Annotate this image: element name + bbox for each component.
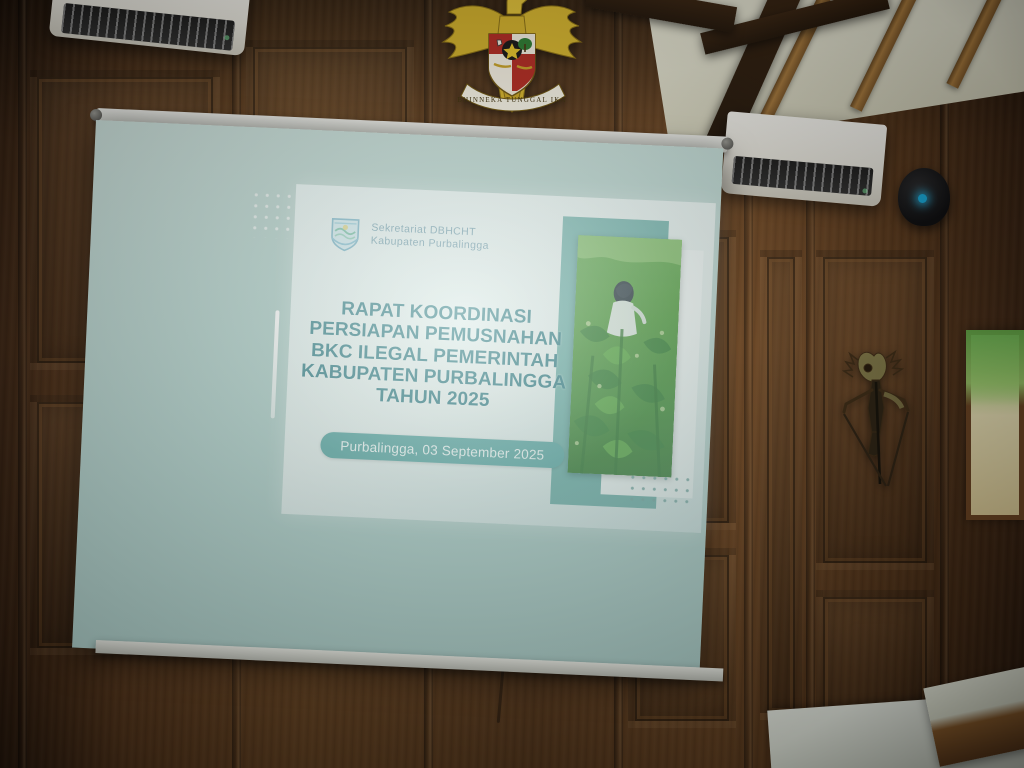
wall-plank-seam xyxy=(940,0,949,768)
speaker-power-led xyxy=(918,194,927,203)
slide-header: Sekretariat DBHCHT Kabupaten Purbalingga xyxy=(327,214,490,259)
window xyxy=(966,330,1024,520)
dot-grid-icon xyxy=(626,471,694,510)
tobacco-field-photo xyxy=(567,235,682,477)
ac-vent-right xyxy=(731,156,874,196)
slide-title: RAPAT KOORDINASI PERSIAPAN PEMUSNAHAN BK… xyxy=(298,297,571,415)
wall-plank-seam xyxy=(18,0,27,768)
slide-date-badge: Purbalingga, 03 September 2025 xyxy=(320,432,565,469)
window-curtain xyxy=(966,330,1024,406)
svg-text:BHINNEKA TUNGGAL IKA: BHINNEKA TUNGGAL IKA xyxy=(457,96,567,104)
garuda-pancasila-emblem: BHINNEKA TUNGGAL IKA xyxy=(437,0,587,117)
purbalingga-regency-crest-icon xyxy=(327,214,363,254)
projection-screen[interactable]: Sekretariat DBHCHT Kabupaten Purbalingga xyxy=(72,120,723,676)
room-photo-scene: BHINNEKA TUNGGAL IKA xyxy=(0,0,1024,768)
wall-panel xyxy=(760,250,802,720)
vertical-accent-bar xyxy=(271,310,280,418)
slide-header-text: Sekretariat DBHCHT Kabupaten Purbalingga xyxy=(370,221,489,253)
presentation-slide: Sekretariat DBHCHT Kabupaten Purbalingga xyxy=(281,184,716,533)
ceiling-speaker xyxy=(898,168,950,226)
wayang-kulit-puppet xyxy=(828,338,924,488)
air-conditioner-right xyxy=(721,111,888,207)
